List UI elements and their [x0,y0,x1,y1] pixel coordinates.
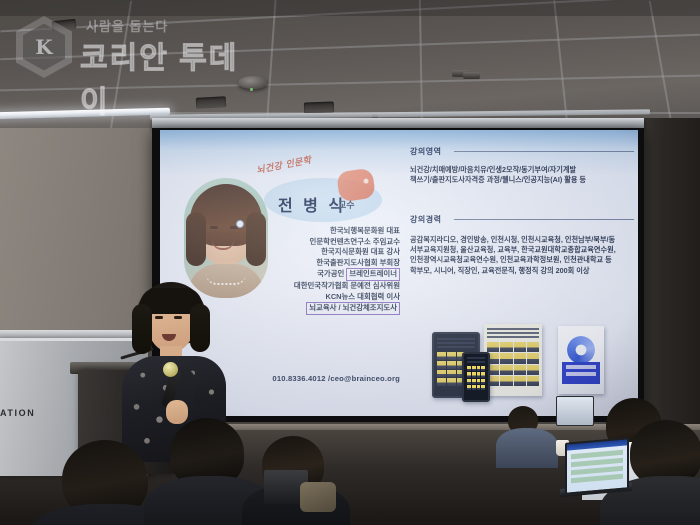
section-line: 공감복지라디오, 경인방송, 인천시청, 인천시교육청, 인천남부/북부/동 [410,235,636,245]
slide-credentials-list: 한국뇌행복문화원 대표 인문학컨텐츠연구소 주임교수 한국지식문화원 대표 강사… [248,226,400,315]
book-cover-white [558,326,604,394]
ceiling-vent [304,101,334,113]
slide-contact-info: 010.8336.4012 /ceo@brainceo.org [234,374,400,383]
laptop-rear[interactable] [556,396,594,426]
section-line: 인천광역시교육청교육연수원, 인천교육과학정보원, 인천관내학교 등 [410,255,636,265]
ceiling-vent [196,96,227,109]
ceiling-speaker-icon [463,72,480,79]
book-title-band [562,362,600,384]
credential-item: 한국출판지도사협회 부회장 [248,258,400,269]
credential-item: 인문학컨텐츠연구소 주임교수 [248,237,400,248]
slide-book-mockups [422,318,612,402]
phone-mockup [462,352,490,402]
credential-item: KCN뉴스 대회협력 이사 [248,292,400,303]
slide-section-lecture-areas: 강의영역 뇌건강/치매예방/마음치유/인생2모작/동기부여/자기계발 책쓰기/출… [410,146,636,185]
laptop-screen-content [571,450,623,489]
credential-item-highlighted: 국가공인 브레인트레이너 [248,268,400,281]
microphone-head-icon [163,362,178,377]
smoke-detector-icon [238,76,268,89]
credential-boxed-label: 브레인트레이너 [346,268,400,281]
slide-handwritten-title: 뇌건강 인문학 [255,153,312,176]
credential-boxed-label: 뇌교육사 / 뇌건강체조지도사 [306,302,400,315]
slide-speaker-name: 전 병 식 [278,192,346,216]
slide-section-lecture-history: 강의경력 공감복지라디오, 경인방송, 인천시청, 인천시교육청, 인천남부/북… [410,214,636,276]
bullet-dot-icon [236,220,244,228]
ceiling-vent [52,19,77,31]
cabinet-brand-label: ATION [0,408,35,418]
backpack [300,482,336,512]
lecture-hall-photo: 뇌건강 인문학 전 병 식 교수 한국뇌행복문화원 대표 인문학컨텐츠연구소 주… [0,0,700,525]
laptop-screen[interactable] [565,437,629,495]
spiral-graphic-icon [567,336,595,364]
credential-item: 한국지식문화원 대표 강사 [248,247,400,258]
book-cover-yellow [484,324,542,396]
section-line: 책쓰기/출판지도사자격증 과정/웰니스/인공지능(AI) 활용 등 [410,175,636,185]
section-line: 학부모, 시니어, 직장인, 교육전문직, 행정직 강의 200회 이상 [410,266,636,276]
credential-item: 대한민국작가협회 문예전 심사위원 [248,281,400,292]
section-line: 뇌건강/치매예방/마음치유/인생2모작/동기부여/자기계발 [410,165,636,175]
section-line: 서부교육지원청, 울산교육청, 교육부, 한국교원대학교종합교육연수원, [410,245,636,255]
credential-item-highlighted: 뇌교육사 / 뇌건강체조지도사 [248,302,400,315]
credential-prefix: 국가공인 [317,269,344,278]
slide-speaker-title: 교수 [338,198,355,211]
credential-item: 한국뇌행복문화원 대표 [248,226,400,237]
ceiling-light-fixture [0,108,170,120]
